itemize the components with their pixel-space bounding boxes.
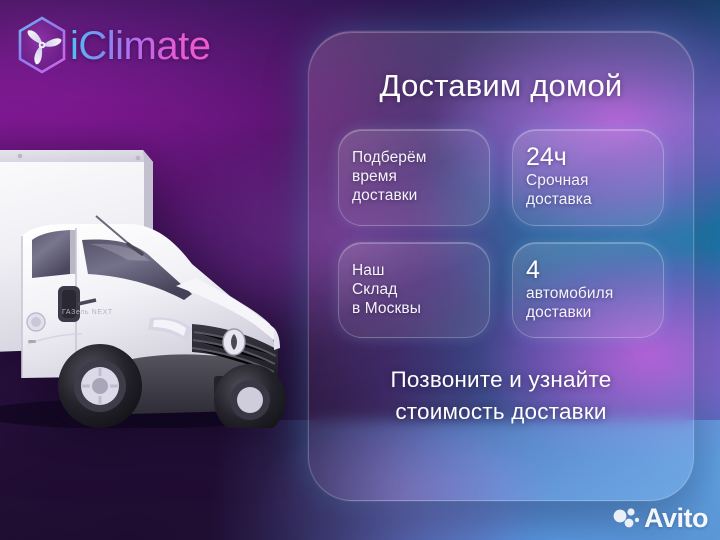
cta-line: стоимость доставки bbox=[390, 396, 611, 428]
avito-watermark: Avito bbox=[613, 505, 708, 532]
pill-line: в Москвы bbox=[352, 299, 476, 318]
pill-line: Склад bbox=[352, 280, 476, 299]
white-box-truck-icon: ГАЗель NEXT bbox=[0, 128, 308, 428]
pill-line: доставки bbox=[352, 186, 476, 205]
svg-text:ГАЗель NEXT: ГАЗель NEXT bbox=[62, 309, 113, 316]
card-title: Доставим домой bbox=[380, 70, 623, 101]
cta-line: Позвоните и узнайте bbox=[390, 364, 611, 396]
pill-line: доставки bbox=[526, 303, 650, 322]
pill-highlight: 24ч bbox=[526, 144, 650, 170]
offer-card: Доставим домой Подберём время доставки 2… bbox=[308, 31, 694, 501]
avito-dots-icon bbox=[613, 507, 639, 531]
pill-line: Срочная bbox=[526, 171, 650, 190]
pill-line: автомобиля bbox=[526, 284, 650, 303]
pill-line: доставка bbox=[526, 190, 650, 209]
pill-line: Подберём bbox=[352, 148, 476, 167]
call-to-action[interactable]: Позвоните и узнайте стоимость доставки bbox=[390, 364, 611, 428]
feature-pill-delivery-time[interactable]: Подберём время доставки bbox=[338, 129, 490, 226]
brand-logo: iClimate bbox=[12, 14, 210, 78]
pill-line: время bbox=[352, 167, 476, 186]
brand-name: iClimate bbox=[70, 26, 210, 66]
fan-turbine-hexagon-icon bbox=[12, 14, 72, 78]
feature-pill-fleet[interactable]: 4 автомобиля доставки bbox=[512, 242, 664, 339]
feature-pill-grid: Подберём время доставки 24ч Срочная дост… bbox=[338, 129, 664, 338]
feature-pill-warehouse[interactable]: Наш Склад в Москвы bbox=[338, 242, 490, 339]
feature-pill-express[interactable]: 24ч Срочная доставка bbox=[512, 129, 664, 226]
pill-line: Наш bbox=[352, 261, 476, 280]
pill-highlight: 4 bbox=[526, 257, 650, 283]
avito-label: Avito bbox=[644, 505, 708, 532]
promo-banner: iClimate bbox=[0, 0, 720, 540]
